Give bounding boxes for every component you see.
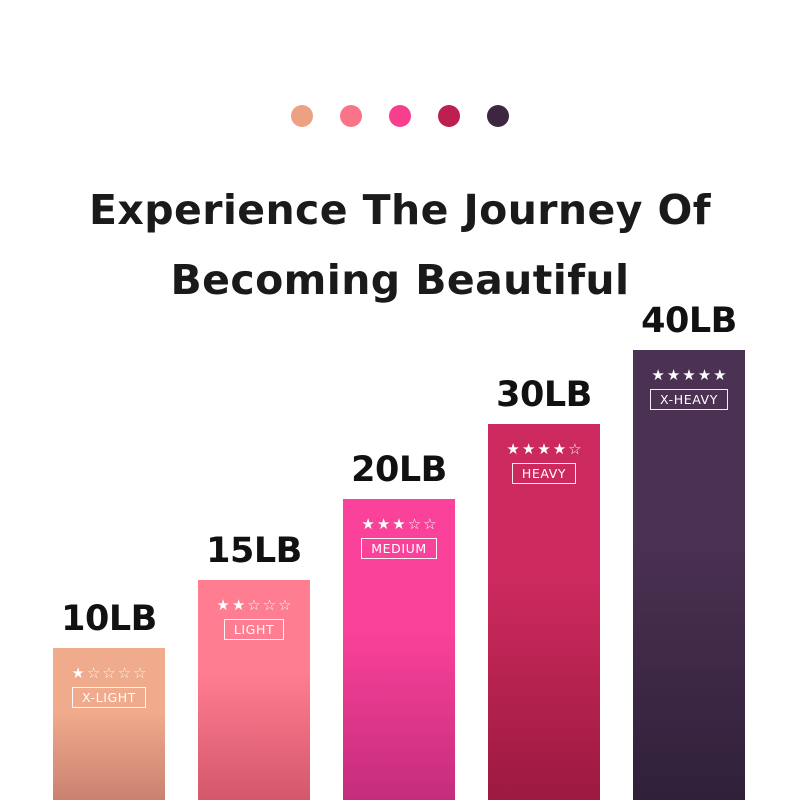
star-rating: ★★★★☆ xyxy=(506,441,581,457)
star-rating: ★★☆☆☆ xyxy=(216,597,291,613)
bar-badge: ★★☆☆☆LIGHT xyxy=(198,597,310,640)
bar-30lb[interactable]: 30LB★★★★☆HEAVY xyxy=(488,424,600,800)
star-filled-icon: ★ xyxy=(361,516,374,532)
bar-value-label: 10LB xyxy=(61,599,157,639)
star-filled-icon: ★ xyxy=(522,441,535,457)
star-empty-icon: ☆ xyxy=(118,665,131,681)
star-rating: ★★★☆☆ xyxy=(361,516,436,532)
bar-badge: ★★★★☆HEAVY xyxy=(488,441,600,484)
bar-15lb[interactable]: 15LB★★☆☆☆LIGHT xyxy=(198,580,310,800)
star-empty-icon: ☆ xyxy=(247,597,260,613)
star-empty-icon: ☆ xyxy=(102,665,115,681)
star-rating: ★☆☆☆☆ xyxy=(71,665,146,681)
level-label: X-LIGHT xyxy=(72,687,146,708)
star-filled-icon: ★ xyxy=(553,441,566,457)
star-empty-icon: ☆ xyxy=(568,441,581,457)
bar-badge: ★★★☆☆MEDIUM xyxy=(343,516,455,559)
bar-value-label: 15LB xyxy=(206,531,302,571)
resistance-band-bar-chart: 10LB★☆☆☆☆X-LIGHT15LB★★☆☆☆LIGHT20LB★★★☆☆M… xyxy=(0,0,800,800)
bar-fill: ★★★★★X-HEAVY xyxy=(633,350,745,800)
level-label: HEAVY xyxy=(512,463,576,484)
bar-fill: ★☆☆☆☆X-LIGHT xyxy=(53,648,165,800)
star-empty-icon: ☆ xyxy=(87,665,100,681)
bar-badge: ★☆☆☆☆X-LIGHT xyxy=(53,665,165,708)
bar-40lb[interactable]: 40LB★★★★★X-HEAVY xyxy=(633,350,745,800)
star-filled-icon: ★ xyxy=(506,441,519,457)
star-empty-icon: ☆ xyxy=(133,665,146,681)
level-label: LIGHT xyxy=(224,619,284,640)
star-filled-icon: ★ xyxy=(377,516,390,532)
star-filled-icon: ★ xyxy=(698,367,711,383)
star-filled-icon: ★ xyxy=(216,597,229,613)
star-filled-icon: ★ xyxy=(713,367,726,383)
bar-fill: ★★★★☆HEAVY xyxy=(488,424,600,800)
star-rating: ★★★★★ xyxy=(651,367,726,383)
level-label: MEDIUM xyxy=(361,538,437,559)
star-filled-icon: ★ xyxy=(392,516,405,532)
star-empty-icon: ☆ xyxy=(423,516,436,532)
star-filled-icon: ★ xyxy=(651,367,664,383)
level-label: X-HEAVY xyxy=(650,389,728,410)
bar-badge: ★★★★★X-HEAVY xyxy=(633,367,745,410)
bar-20lb[interactable]: 20LB★★★☆☆MEDIUM xyxy=(343,499,455,800)
star-empty-icon: ☆ xyxy=(278,597,291,613)
star-empty-icon: ☆ xyxy=(263,597,276,613)
star-filled-icon: ★ xyxy=(232,597,245,613)
bar-10lb[interactable]: 10LB★☆☆☆☆X-LIGHT xyxy=(53,648,165,800)
star-empty-icon: ☆ xyxy=(408,516,421,532)
bar-value-label: 40LB xyxy=(641,301,737,341)
bar-fill: ★★☆☆☆LIGHT xyxy=(198,580,310,800)
star-filled-icon: ★ xyxy=(667,367,680,383)
bar-value-label: 20LB xyxy=(351,450,447,490)
star-filled-icon: ★ xyxy=(71,665,84,681)
bar-value-label: 30LB xyxy=(496,375,592,415)
star-filled-icon: ★ xyxy=(682,367,695,383)
star-filled-icon: ★ xyxy=(537,441,550,457)
bar-fill: ★★★☆☆MEDIUM xyxy=(343,499,455,800)
